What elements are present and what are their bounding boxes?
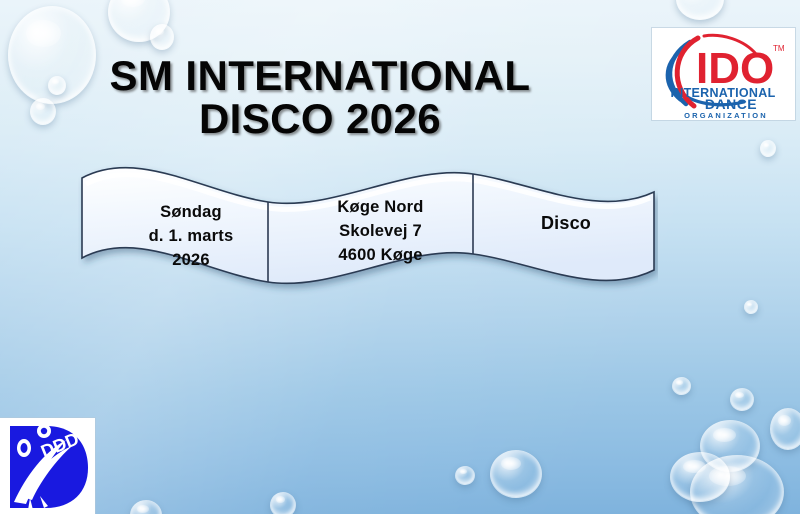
ribbon-panel-date-line-1: Søndag [96, 200, 286, 224]
ribbon-panel-date-line-2: d. 1. marts [96, 224, 286, 248]
ido-line2-text: DANCE [705, 96, 757, 112]
bubble-decoration [150, 24, 174, 50]
bubble-decoration [108, 0, 170, 42]
ido-logo: IDO TM INTERNATIONAL DANCE ORGANIZATION [652, 28, 795, 120]
bubble-decoration [730, 388, 754, 411]
bubble-decoration [270, 492, 296, 514]
page-title: SM INTERNATIONAL DISCO 2026 [60, 55, 580, 141]
ido-logo-icon: IDO TM INTERNATIONAL DANCE ORGANIZATION [652, 28, 795, 120]
ribbon-panel-venue-line-3: 4600 Køge [278, 243, 483, 267]
ribbon-panel-venue-line-1: Køge Nord [278, 195, 483, 219]
ido-trademark-text: TM [773, 44, 785, 53]
ribbon-panel-discipline-line-1: Disco [476, 210, 656, 236]
ddd-logo-icon: DDD [0, 418, 95, 514]
slide-canvas: SM INTERNATIONAL DISCO 2026 [0, 0, 800, 514]
title-line-1: SM INTERNATIONAL [60, 55, 580, 98]
ribbon-panel-date: Søndag d. 1. marts 2026 [96, 200, 286, 272]
bubble-decoration [672, 377, 691, 395]
info-ribbon: Søndag d. 1. marts 2026 Køge Nord Skolev… [78, 158, 658, 306]
bubble-decoration [30, 98, 56, 125]
ribbon-panel-venue: Køge Nord Skolevej 7 4600 Køge [278, 195, 483, 267]
bubble-decoration [690, 455, 784, 514]
bubble-decoration [455, 466, 475, 485]
bubble-decoration [770, 408, 800, 450]
ribbon-panel-date-line-3: 2026 [96, 248, 286, 272]
ddd-logo: DDD [0, 418, 95, 514]
bubble-decoration [490, 450, 542, 498]
bubble-decoration [130, 500, 162, 514]
ido-line3-text: ORGANIZATION [684, 111, 768, 120]
bubble-decoration [676, 0, 724, 20]
bubble-decoration [670, 452, 730, 502]
title-line-2: DISCO 2026 [60, 98, 580, 141]
bubble-decoration [744, 300, 758, 314]
bubble-decoration [760, 140, 776, 157]
ribbon-panel-discipline: Disco [476, 210, 656, 236]
bubble-decoration [700, 420, 760, 472]
ribbon-panel-venue-line-2: Skolevej 7 [278, 219, 483, 243]
